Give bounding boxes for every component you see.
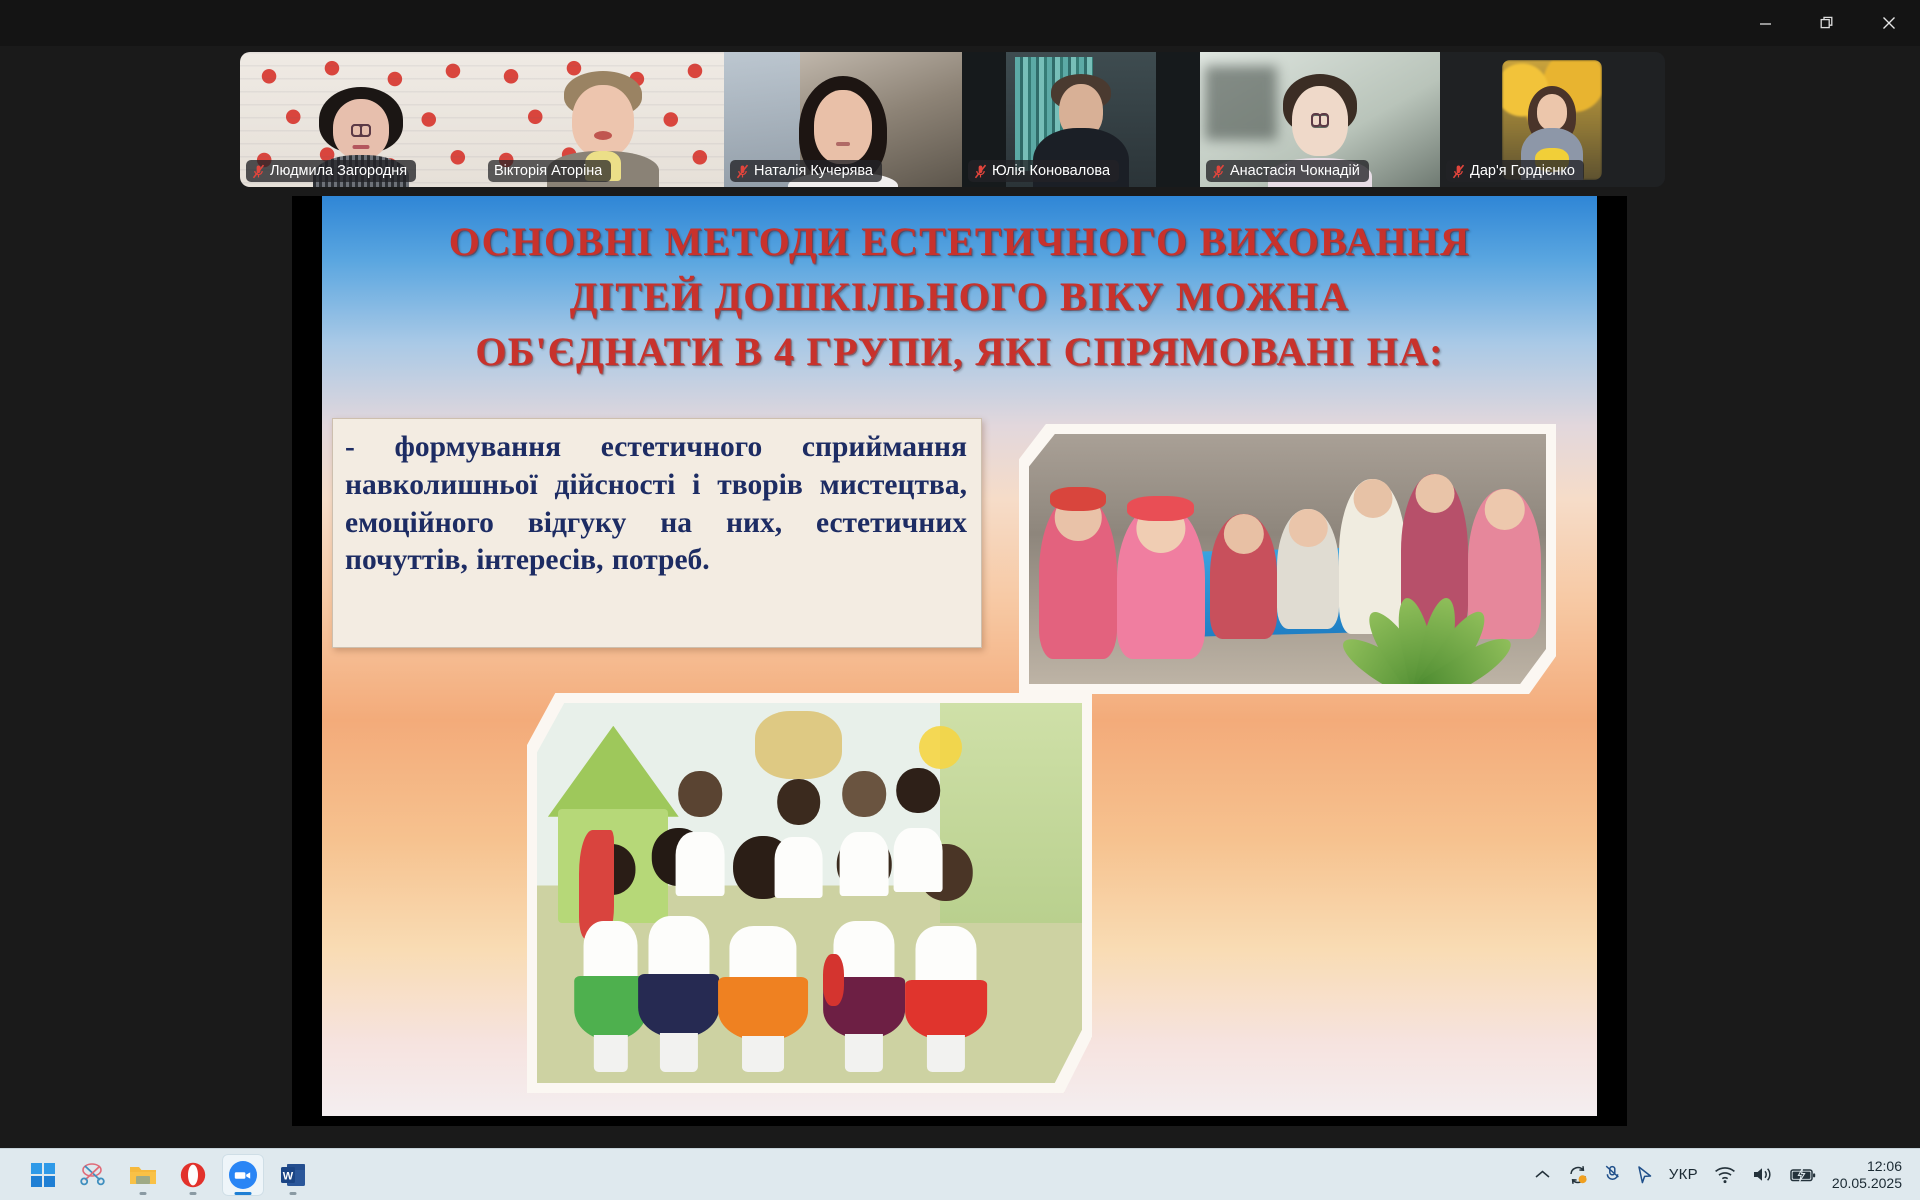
participant-name-4: Анастасія Чокнадій	[1230, 164, 1360, 179]
participant-tile-2[interactable]: Наталія Кучерява	[724, 52, 962, 187]
taskbar-app-list: W	[0, 1154, 314, 1196]
clock[interactable]: 12:06 20.05.2025	[1832, 1158, 1902, 1192]
wifi-icon[interactable]	[1714, 1166, 1736, 1184]
slide-title-line-2: ОБ'ЄДНАТИ В 4 ГРУПИ, ЯКІ СПРЯМОВАНІ НА:	[322, 324, 1597, 379]
start-button[interactable]	[22, 1154, 64, 1196]
minimize-button[interactable]	[1734, 0, 1796, 46]
pen-cursor-icon[interactable]	[1636, 1165, 1653, 1185]
participant-name-badge-3: Юлія Коновалова	[968, 160, 1119, 182]
slide-title: ОСНОВНІ МЕТОДИ ЕСТЕТИЧНОГО ВИХОВАННЯ ДІТ…	[322, 214, 1597, 380]
participant-name-5: Дар'я Гордієнко	[1470, 164, 1575, 179]
slide-title-line-0: ОСНОВНІ МЕТОДИ ЕСТЕТИЧНОГО ВИХОВАННЯ	[322, 214, 1597, 269]
file-explorer-button[interactable]	[122, 1154, 164, 1196]
slide-photo-2-image	[537, 703, 1082, 1083]
participant-name-1: Вікторія Аторіна	[494, 164, 602, 179]
snipping-tool-button[interactable]	[72, 1154, 114, 1196]
mic-muted-icon	[1452, 164, 1465, 179]
clock-date: 20.05.2025	[1832, 1175, 1902, 1192]
participant-thumbnail-strip[interactable]: Людмила Загородня Вікторія Аторіна	[240, 52, 1665, 187]
chevron-up-icon[interactable]	[1534, 1169, 1551, 1181]
windows-taskbar[interactable]: W	[0, 1148, 1920, 1200]
participant-tile-1[interactable]: Вікторія Аторіна	[482, 52, 724, 187]
presentation-slide: ОСНОВНІ МЕТОДИ ЕСТЕТИЧНОГО ВИХОВАННЯ ДІТ…	[322, 196, 1597, 1116]
participant-name-badge-1: Вікторія Аторіна	[488, 160, 611, 182]
participant-tile-3[interactable]: Юлія Коновалова	[962, 52, 1200, 187]
slide-title-line-1: ДІТЕЙ ДОШКІЛЬНОГО ВІКУ МОЖНА	[322, 269, 1597, 324]
sync-update-icon[interactable]	[1567, 1164, 1589, 1186]
windows-start-icon	[31, 1163, 55, 1187]
mic-muted-icon	[252, 164, 265, 179]
mic-muted-icon	[974, 164, 987, 179]
volume-icon[interactable]	[1752, 1165, 1774, 1184]
participant-name-badge-2: Наталія Кучерява	[730, 160, 882, 182]
word-icon: W	[280, 1162, 306, 1188]
slide-photo-1-image	[1029, 434, 1546, 684]
plant-decoration	[1319, 554, 1536, 684]
running-indicator	[190, 1192, 197, 1195]
desktop-root: Людмила Загородня Вікторія Аторіна	[0, 0, 1920, 1200]
mic-muted-icon	[736, 164, 749, 179]
svg-text:W: W	[283, 1170, 294, 1182]
participant-tile-0[interactable]: Людмила Загородня	[240, 52, 482, 187]
clock-time: 12:06	[1832, 1158, 1902, 1175]
zoom-window-titlebar	[0, 0, 1920, 46]
system-tray: УКР	[1534, 1158, 1920, 1192]
participant-name-badge-5: Дар'я Гордієнко	[1446, 160, 1584, 182]
slide-photo-1	[1019, 424, 1556, 694]
mic-muted-icon	[1212, 164, 1225, 179]
window-controls	[1734, 0, 1920, 46]
close-button[interactable]	[1858, 0, 1920, 46]
language-indicator[interactable]: УКР	[1669, 1166, 1698, 1183]
snipping-tool-icon	[79, 1162, 107, 1188]
word-button[interactable]: W	[272, 1154, 314, 1196]
slide-body-textbox: - формування естетичного сприймання навк…	[332, 418, 982, 648]
participant-name-2: Наталія Кучерява	[754, 164, 873, 179]
battery-charging-icon[interactable]	[1790, 1167, 1816, 1183]
zoom-button[interactable]	[222, 1154, 264, 1196]
zoom-icon	[228, 1160, 258, 1190]
shared-screen-stage[interactable]: ОСНОВНІ МЕТОДИ ЕСТЕТИЧНОГО ВИХОВАННЯ ДІТ…	[292, 196, 1627, 1126]
opera-button[interactable]	[172, 1154, 214, 1196]
participant-tile-4[interactable]: Анастасія Чокнадій	[1200, 52, 1440, 187]
microphone-icon[interactable]	[1605, 1165, 1620, 1185]
file-explorer-icon	[129, 1163, 157, 1187]
running-indicator	[140, 1192, 147, 1195]
participant-name-badge-0: Людмила Загородня	[246, 160, 416, 182]
participant-name-badge-4: Анастасія Чокнадій	[1206, 160, 1369, 182]
running-indicator	[290, 1192, 297, 1195]
active-indicator	[235, 1192, 252, 1195]
participant-name-3: Юлія Коновалова	[992, 164, 1110, 179]
restore-button[interactable]	[1796, 0, 1858, 46]
slide-photo-2	[527, 693, 1092, 1093]
participant-name-0: Людмила Загородня	[270, 164, 407, 179]
opera-icon	[180, 1162, 206, 1188]
participant-tile-5[interactable]: Дар'я Гордієнко	[1440, 52, 1665, 187]
